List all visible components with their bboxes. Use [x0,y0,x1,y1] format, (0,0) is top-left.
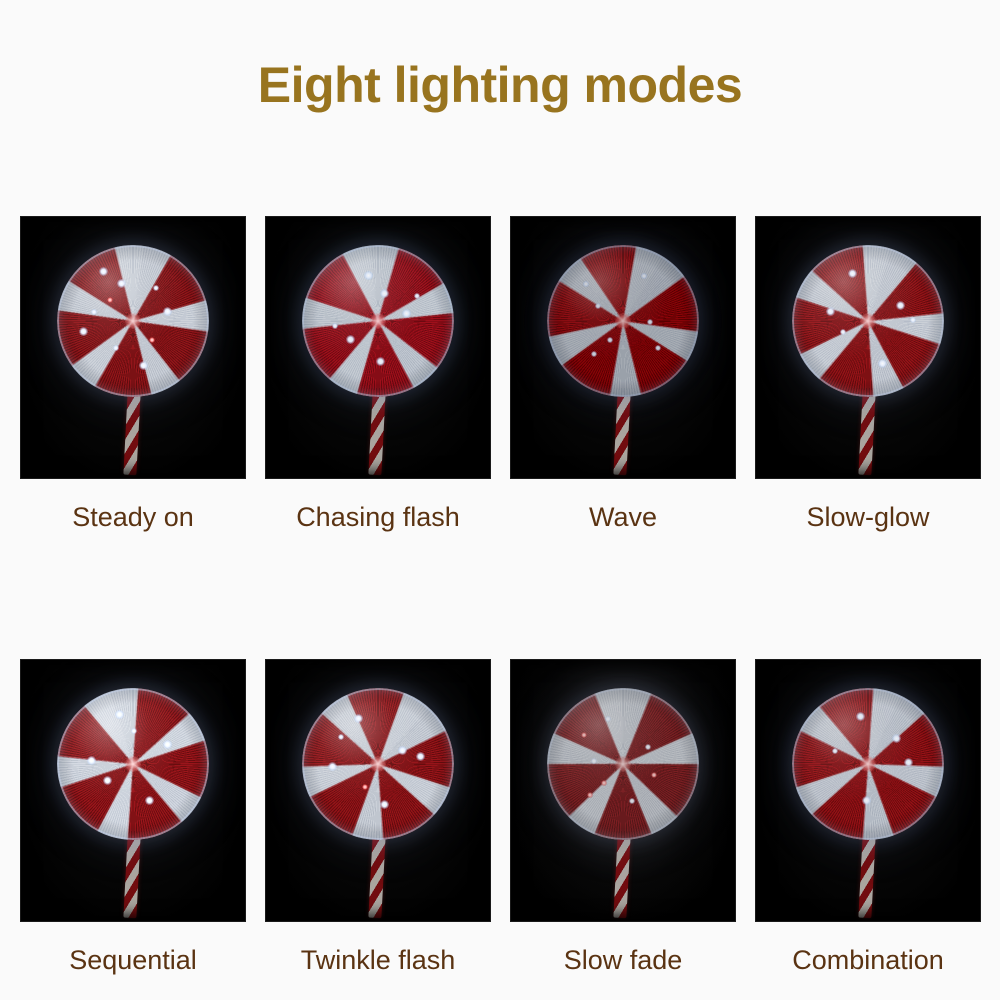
peppermint-lollipop-icon [298,245,458,475]
mode-label: Slow-glow [755,501,981,533]
mode-label: Sequential [20,944,246,976]
mode-cell-chasing-flash[interactable]: Chasing flash [265,216,491,533]
candy-rim [302,245,454,397]
mode-cell-sequential[interactable]: Sequential [20,659,246,976]
candy-disc [302,245,454,397]
mode-cell-twinkle-flash[interactable]: Twinkle flash [265,659,491,976]
lollipop-slow-glow-thumb[interactable] [755,216,981,479]
candy-disc [57,245,209,397]
mode-label: Steady on [20,501,246,533]
lollipop-combination-thumb[interactable] [755,659,981,922]
mode-cell-slow-glow[interactable]: Slow-glow [755,216,981,533]
mode-cell-combination[interactable]: Combination [755,659,981,976]
candy-rim [57,245,209,397]
page-title: Eight lighting modes [0,58,1000,113]
mode-label: Wave [510,501,736,533]
candy-disc [302,688,454,840]
candy-rim [57,688,209,840]
mode-label: Twinkle flash [265,944,491,976]
mode-cell-steady-on[interactable]: Steady on [20,216,246,533]
mode-cell-slow-fade[interactable]: Slow fade [510,659,736,976]
candy-disc [547,245,699,397]
lollipop-twinkle-flash-thumb[interactable] [265,659,491,922]
peppermint-lollipop-icon [788,688,948,918]
peppermint-lollipop-icon [543,688,703,918]
candy-disc [57,688,209,840]
peppermint-lollipop-icon [53,688,213,918]
peppermint-lollipop-icon [53,245,213,475]
mode-cell-wave[interactable]: Wave [510,216,736,533]
mode-label: Chasing flash [265,501,491,533]
candy-rim [547,245,699,397]
candy-rim [792,688,944,840]
mode-label: Combination [755,944,981,976]
lollipop-chasing-flash-thumb[interactable] [265,216,491,479]
lollipop-sequential-thumb[interactable] [20,659,246,922]
candy-rim [792,245,944,397]
lollipop-slow-fade-thumb[interactable] [510,659,736,922]
candy-rim [302,688,454,840]
lighting-modes-grid: Steady on [20,216,981,977]
mode-label: Slow fade [510,944,736,976]
peppermint-lollipop-icon [543,245,703,475]
candy-disc [792,245,944,397]
candy-disc [792,688,944,840]
lollipop-steady-on-thumb[interactable] [20,216,246,479]
candy-rim [547,688,699,840]
peppermint-lollipop-icon [788,245,948,475]
candy-disc [547,688,699,840]
peppermint-lollipop-icon [298,688,458,918]
lollipop-wave-thumb[interactable] [510,216,736,479]
